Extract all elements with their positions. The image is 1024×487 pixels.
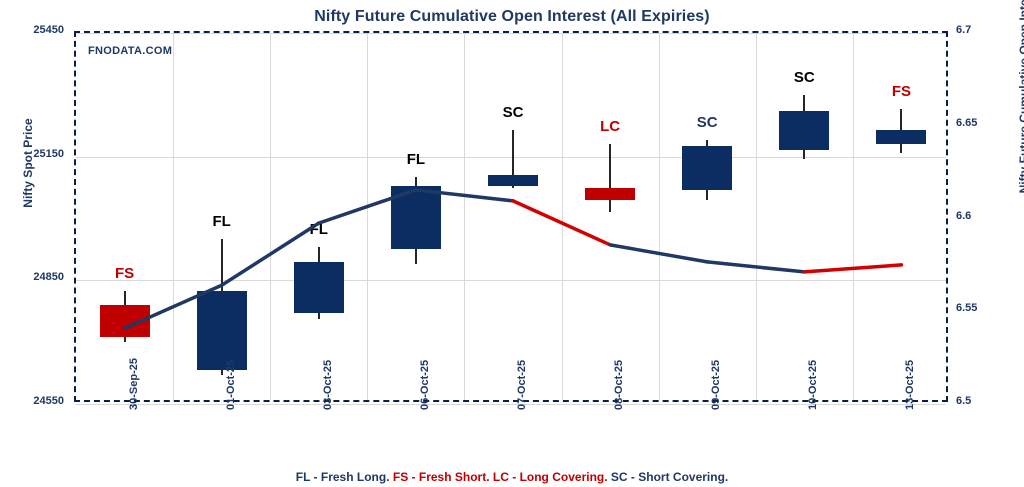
y2-axis-tick-label: 6.6 xyxy=(956,210,1010,222)
oi-line-segment xyxy=(513,201,610,245)
oi-line-segment xyxy=(707,262,804,272)
x-axis-tick-label: 13-Oct-25 xyxy=(904,360,916,410)
oi-line-segment xyxy=(222,223,319,285)
x-axis-tick-label: 09-Oct-25 xyxy=(710,360,722,410)
x-axis-tick-label: 08-Oct-25 xyxy=(613,360,625,410)
y2-axis-tick-label: 6.5 xyxy=(956,395,1010,407)
oi-line-segment xyxy=(125,285,222,328)
y2-axis-tick-label: 6.65 xyxy=(956,117,1010,129)
x-axis-tick-label: 10-Oct-25 xyxy=(807,360,819,410)
oi-line-segment xyxy=(319,190,416,223)
legend-note: FL - Fresh Long. FS - Fresh Short. LC - … xyxy=(0,470,1024,484)
y2-axis-tick-label: 6.55 xyxy=(956,302,1010,314)
legend-fl: FL - Fresh Long. xyxy=(296,470,390,484)
y-axis-tick-label: 24550 xyxy=(0,395,64,407)
y-axis-tick-label: 25150 xyxy=(0,148,64,160)
oi-line-segment xyxy=(416,190,513,201)
oi-line-segment xyxy=(804,265,901,272)
page-title: Nifty Future Cumulative Open Interest (A… xyxy=(0,8,1024,26)
left-axis-title: Nifty Spot Price xyxy=(21,83,35,243)
y-axis-tick-label: 24850 xyxy=(0,271,64,283)
chart-root: Nifty Future Cumulative Open Interest (A… xyxy=(0,0,1024,487)
x-axis-tick-label: 30-Sep-25 xyxy=(128,358,140,410)
x-axis-tick-label: 03-Oct-25 xyxy=(322,360,334,410)
legend-lc: LC - Long Covering. xyxy=(493,470,608,484)
x-axis-tick-label: 06-Oct-25 xyxy=(419,360,431,410)
right-axis-title: Nifty Future Cumulative Open Interest (A… xyxy=(1017,0,1024,197)
x-axis-tick-label: 01-Oct-25 xyxy=(225,360,237,410)
legend-fs: FS - Fresh Short. xyxy=(393,470,490,484)
oi-line-segment xyxy=(610,245,707,262)
x-axis-tick-label: 07-Oct-25 xyxy=(516,360,528,410)
plot-area: FNODATA.COM FSFLFLFLSCLCSCSCFS xyxy=(74,31,948,402)
open-interest-line-series xyxy=(76,33,950,404)
legend-sc: SC - Short Covering. xyxy=(611,470,728,484)
y2-axis-tick-label: 6.7 xyxy=(956,24,1010,36)
y-axis-tick-label: 25450 xyxy=(0,24,64,36)
